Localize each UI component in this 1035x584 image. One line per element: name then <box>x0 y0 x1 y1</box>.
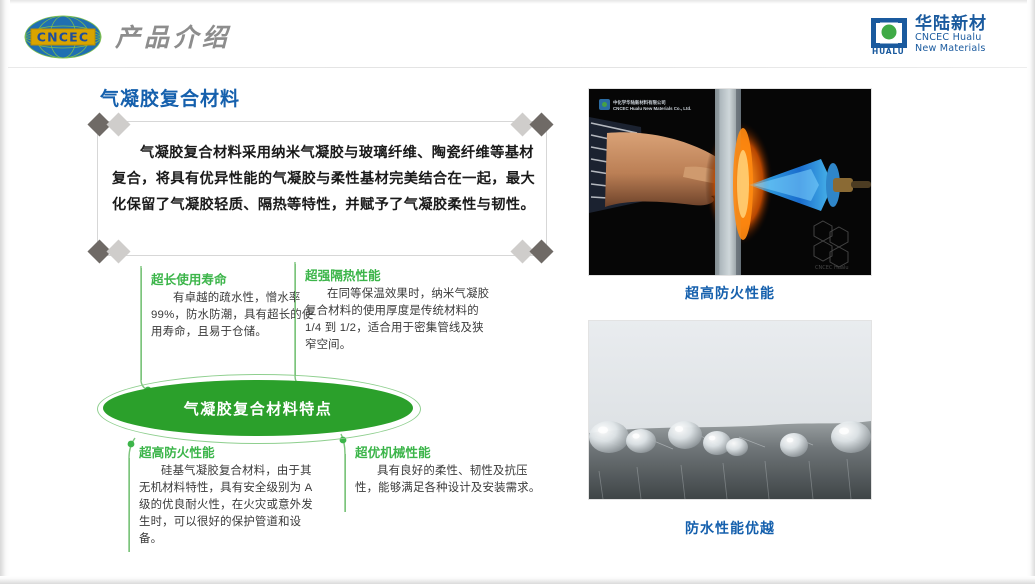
svg-text:CNCEC Hualu: CNCEC Hualu <box>815 265 849 271</box>
feature-top-right-body: 在同等保温效果时，纳米气凝胶复合材料的使用厚度是传统材料的 1/4 到 1/2，… <box>305 286 495 354</box>
feature-top-left-body: 有卓越的疏水性，憎水率 99%，防水防潮，具有超长的使用寿命，且易于仓储。 <box>151 290 323 341</box>
features-diagram: 气凝胶复合材料特点 超长使用寿命 有卓越的疏水性，憎水率 99%，防水防潮，具有… <box>95 262 565 562</box>
feature-bottom-left-body: 硅基气凝胶复合材料，由于其无机材料特性，具有安全级别为 A 级的优良耐火性，在火… <box>139 463 313 548</box>
feature-bottom-right-body: 具有良好的柔性、韧性及抗压性，能够满足各种设计及安装需求。 <box>355 463 545 497</box>
slide-edge-bottom <box>0 576 1035 584</box>
svg-text:HUALU: HUALU <box>872 47 905 56</box>
feature-bottom-left-heading: 超高防火性能 <box>139 442 215 461</box>
svg-text:华陆新材: 华陆新材 <box>915 13 987 34</box>
feature-top-left-rule <box>141 268 142 380</box>
center-ellipse-label: 气凝胶复合材料特点 <box>184 398 333 419</box>
photo-watermark-en: CNCEC Hualu New Materials Co., Ltd. <box>613 106 691 112</box>
section-title: 气凝胶复合材料 <box>100 84 240 111</box>
fire-resistance-caption: 超高防火性能 <box>588 283 872 303</box>
feature-bottom-left-rule <box>129 458 130 552</box>
feature-top-left-heading: 超长使用寿命 <box>151 269 227 288</box>
hualu-brand-logo: HUALU 华陆新材 CNCEC Hualu New Materials <box>867 10 1017 56</box>
slide-edge-left <box>0 0 10 584</box>
cncec-globe-icon: CNCEC <box>22 14 104 60</box>
header-divider <box>8 67 1027 68</box>
photo-watermark-badge-icon <box>599 99 610 110</box>
svg-text:CNCEC Hualu: CNCEC Hualu <box>915 32 982 43</box>
photo-watermark-text: 中化学华陆新材料有限公司 CNCEC Hualu New Materials C… <box>613 100 691 111</box>
svg-text:New Materials: New Materials <box>915 43 986 54</box>
feature-bottom-right-heading: 超优机械性能 <box>355 442 431 461</box>
svg-text:CNCEC: CNCEC <box>37 30 90 45</box>
feature-top-right-rule <box>295 264 296 376</box>
feature-top-right-heading: 超强隔热性能 <box>305 265 381 284</box>
center-ellipse: 气凝胶复合材料特点 <box>103 380 413 436</box>
waterproof-photo <box>588 320 872 500</box>
feature-bottom-right-rule <box>345 454 346 512</box>
fire-resistance-photo: CNCEC Hualu 中化学华陆新材料有限公司 CNCEC Hualu New… <box>588 88 872 276</box>
slide-canvas: CNCEC 产品介绍 HUALU 华陆新材 CNCEC Hualu New Ma… <box>0 0 1035 584</box>
slide-edge-right <box>1027 0 1035 584</box>
waterproof-caption: 防水性能优越 <box>588 518 872 538</box>
page-title: 产品介绍 <box>115 18 231 54</box>
slide-header: CNCEC 产品介绍 HUALU 华陆新材 CNCEC Hualu New Ma… <box>0 0 1035 68</box>
description-text: 气凝胶复合材料采用纳米气凝胶与玻璃纤维、陶瓷纤维等基材复合，将具有优异性能的气凝… <box>112 140 536 218</box>
